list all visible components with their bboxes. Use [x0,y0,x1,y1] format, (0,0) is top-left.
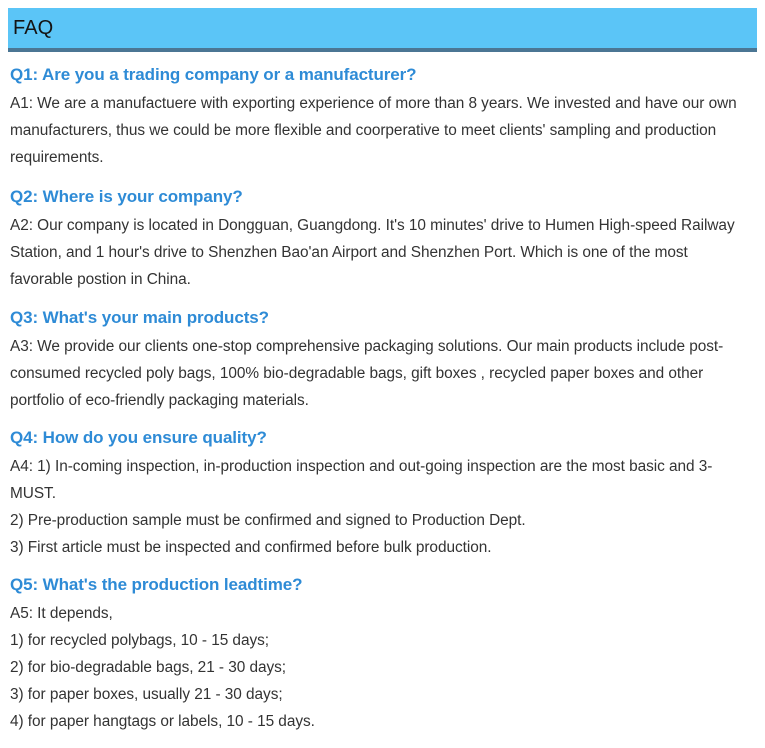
faq-question-q3: Q3: What's your main products? [10,305,752,330]
faq-list: Q1: Are you a trading company or a manuf… [10,62,752,735]
faq-question-q4: Q4: How do you ensure quality? [10,425,752,450]
faq-item-q4: Q4: How do you ensure quality? A4: 1) In… [10,425,752,561]
faq-answer-q4: A4: 1) In-coming inspection, in-producti… [10,453,752,507]
faq-answer-q3: A3: We provide our clients one-stop comp… [10,333,752,414]
faq-item-q3: Q3: What's your main products? A3: We pr… [10,305,752,414]
faq-item-q1: Q1: Are you a trading company or a manuf… [10,62,752,171]
faq-item-q2: Q2: Where is your company? A2: Our compa… [10,184,752,293]
faq-question-q1: Q1: Are you a trading company or a manuf… [10,62,752,87]
faq-answer-q5-line-3: 3) for paper boxes, usually 21 - 30 days… [10,681,752,708]
faq-answer-q5-line-4: 4) for paper hangtags or labels, 10 - 15… [10,708,752,735]
faq-answer-q5: A5: It depends, [10,600,752,627]
faq-header-banner: FAQ [8,8,757,52]
faq-answer-q5-line-2: 2) for bio-degradable bags, 21 - 30 days… [10,654,752,681]
faq-answer-q2: A2: Our company is located in Dongguan, … [10,212,752,293]
page-title: FAQ [13,15,53,41]
faq-answer-q5-line-1: 1) for recycled polybags, 10 - 15 days; [10,627,752,654]
faq-answer-q4-line-3: 3) First article must be inspected and c… [10,534,752,561]
faq-answer-q4-line-2: 2) Pre-production sample must be confirm… [10,507,752,534]
faq-answer-q1: A1: We are a manufactuere with exporting… [10,90,752,171]
faq-question-q2: Q2: Where is your company? [10,184,752,209]
faq-question-q5: Q5: What's the production leadtime? [10,572,752,597]
faq-page: FAQ Q1: Are you a trading company or a m… [0,0,765,748]
faq-item-q5: Q5: What's the production leadtime? A5: … [10,572,752,735]
